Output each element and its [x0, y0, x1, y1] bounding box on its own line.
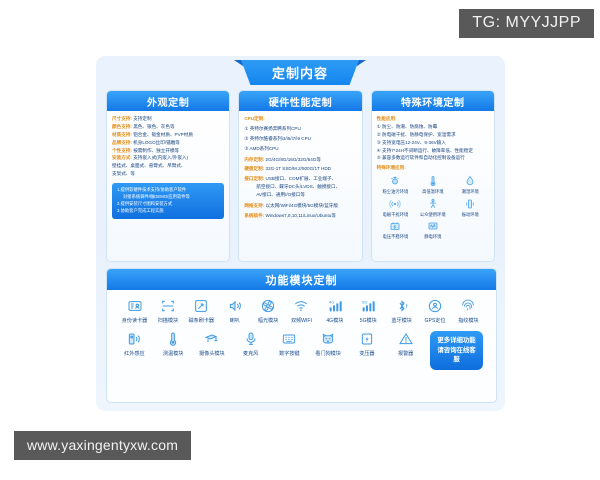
spec-label: 硬盘定制:: [244, 166, 264, 171]
spec-label: 接口定制:: [244, 176, 264, 181]
infrared-icon: [126, 331, 142, 347]
unstable-power-icon: [389, 220, 401, 232]
module-keypad[interactable]: 数字按键: [275, 331, 304, 357]
module-watchdog[interactable]: 看门狗模块: [314, 331, 343, 357]
module-label: 红外感应: [124, 350, 144, 357]
spec-value: USB接口、COM扩展、工业端子、: [266, 176, 337, 181]
service-note-box: 1.提供软硬件技术支持/协助客户软件 对接系统调件/做DEMO/应用软件等 2.…: [112, 183, 224, 219]
spec-label: 尺寸支持:: [112, 116, 132, 121]
spec-row: 个性支持: 按需制作、独立开模等: [112, 147, 224, 155]
module-label: 摄像头模块: [199, 350, 224, 357]
env-item-public-use: 公众使用环境: [414, 198, 451, 218]
env-label: 电磁干扰环境: [382, 211, 408, 218]
spec-cont-line: AV接口、通用I/O接口等: [244, 191, 356, 199]
module-label: 测温模块: [163, 350, 183, 357]
module-label: 看门狗模块: [315, 350, 340, 357]
telegram-watermark: TG: MYYJJPP: [459, 9, 594, 38]
module-5g[interactable]: 5G 5G模块: [352, 298, 385, 324]
spec-value: 以太网/WiFi/4G模块/5G模块/蓝牙版: [266, 203, 338, 208]
page-root: TG: MYYJJPP www.yaxingentyxw.com 定制内容 外观…: [0, 0, 600, 480]
public-person-icon: [427, 198, 439, 210]
module-label: 双频WIFI: [291, 317, 312, 324]
card-hardware: 硬件性能定制 CPU定制: ① 英特尔赛扬奔腾系列CPU ② 英特尔酷睿系列i3…: [238, 90, 362, 262]
module-transformer[interactable]: 变压器: [353, 331, 382, 357]
water-drop-icon: [464, 175, 476, 187]
card-appearance-body: 尺寸支持: 支持定制 颜色支持: 黑色、银色、灰色等 材质支持: 铝合金、钣金材…: [107, 111, 229, 261]
spec-row: 颜色支持: 黑色、银色、灰色等: [112, 123, 224, 131]
module-4g[interactable]: 4G 4G模块: [318, 298, 351, 324]
spec-label: 个性支持:: [112, 148, 132, 153]
spec-row: 安装方式: 支持嵌入式(内嵌入/外嵌入): [112, 154, 224, 162]
bluetooth-icon: [394, 298, 410, 314]
spec-value: 支持嵌入式(内嵌入/外嵌入): [133, 155, 188, 160]
module-speaker[interactable]: 喇叭: [218, 298, 251, 324]
env-label: 粉尘油污环境: [382, 188, 408, 195]
module-alarm[interactable]: 报警器: [391, 331, 420, 357]
spec-label: 安装方式:: [112, 155, 132, 160]
microphone-icon: [243, 331, 259, 347]
module-label: 变压器: [359, 350, 374, 357]
cpu-heading: CPU定制:: [244, 115, 356, 123]
performance-heading: 性能应用:: [377, 115, 489, 123]
speaker-icon: [227, 298, 243, 314]
env-item-unstable-power: 电压不稳环境: [377, 220, 414, 240]
env-item-vibration: 振动环境: [452, 198, 489, 218]
env-label: 静电环境: [424, 233, 441, 240]
module-label: GPS定位: [425, 317, 446, 324]
signal-4g-icon: 4G: [327, 298, 343, 314]
transformer-icon: [359, 331, 375, 347]
module-label: 扫描模块: [158, 317, 178, 324]
note-line: 2.提供安装尺寸图和安装方式: [117, 201, 220, 208]
module-label: 指纹模块: [458, 317, 478, 324]
ribbon-body: 定制内容: [241, 60, 359, 85]
spec-label: 材质支持:: [112, 132, 132, 137]
spec-row: 硬盘定制: 32G-1T SSD/M.2/500G/1T HDD: [244, 165, 356, 173]
camera-icon: [204, 331, 220, 347]
spec-row: 网络支持: 以太网/WiFi/4G模块/5G模块/蓝牙版: [244, 202, 356, 210]
gps-pin-icon: [427, 298, 443, 314]
env-item-dust-oil: 粉尘油污环境: [377, 175, 414, 195]
spec-value: 铝合金、钣金材质、PVP材质: [133, 132, 193, 137]
performance-item: ① 防尘、防潮、防腐蚀、防霉: [377, 123, 489, 131]
module-magstripe[interactable]: 磁条刷卡器: [185, 298, 218, 324]
spec-label: 颜色支持:: [112, 124, 132, 129]
signal-5g-icon: 5G: [360, 298, 376, 314]
card-environment-header: 特殊环境定制: [372, 91, 494, 111]
environment-subheading: 特殊环境应用:: [377, 164, 489, 172]
card-appearance-header: 外观定制: [107, 91, 229, 111]
cards-row: 外观定制 尺寸支持: 支持定制 颜色支持: 黑色、银色、灰色等 材质支持: 铝合…: [106, 90, 495, 262]
env-label: 电压不稳环境: [382, 233, 408, 240]
spec-row: 内存定制: 2G/4G/8G/16G/32G/64G等: [244, 156, 356, 164]
environment-icon-grid: 粉尘油污环境 高低温环境: [377, 175, 489, 240]
card-hardware-header: 硬件性能定制: [239, 91, 361, 111]
id-card-reader-icon: [127, 298, 143, 314]
module-label: 身份读卡器: [122, 317, 147, 324]
module-label: 数字按键: [279, 350, 299, 357]
spec-value: 按需制作、独立开模等: [133, 148, 179, 153]
card-appearance: 外观定制 尺寸支持: 支持定制 颜色支持: 黑色、银色、灰色等 材质支持: 铝合…: [106, 90, 230, 262]
spec-label: 内存定制:: [244, 157, 264, 162]
cpu-list-item: ① 英特尔赛扬奔腾系列CPU: [244, 125, 356, 133]
module-label: 报警器: [398, 350, 413, 357]
card-environment-body: 性能应用: ① 防尘、防潮、防腐蚀、防霉 ② 防电磁干扰、防静电保护、宽温需求 …: [372, 111, 494, 261]
site-watermark: www.yaxingentyxw.com: [14, 431, 191, 460]
spec-value: 机身LOGO丝印/镭雕等: [133, 140, 180, 145]
spec-label: 网络支持:: [244, 203, 264, 208]
module-label: 蓝牙模块: [391, 317, 411, 324]
spec-value: 支持定制: [133, 116, 151, 121]
module-id-card-reader[interactable]: 身份读卡器: [118, 298, 151, 324]
module-fingerprint[interactable]: 指纹模块: [452, 298, 485, 324]
module-scan[interactable]: 扫描模块: [151, 298, 184, 324]
svg-text:4G: 4G: [329, 299, 334, 304]
spec-row: 系统软件: Windows7,8,10,11/Linux/Ubuntu等: [244, 212, 356, 220]
note-line: 3.协助客户完成工程实施: [117, 208, 220, 215]
env-item-emi: 电磁干扰环境: [377, 198, 414, 218]
wifi-icon: [293, 298, 309, 314]
vibration-icon: [464, 198, 476, 210]
note-line: 对接系统调件/做DEMO/应用软件等: [117, 194, 220, 201]
cta-line-1: 更多详细功能: [437, 336, 476, 346]
module-label: 喇叭: [230, 317, 240, 324]
spec-value: 黑色、银色、灰色等: [133, 124, 174, 129]
spec-value: Windows7,8,10,11/Linux/Ubuntu等: [266, 213, 336, 218]
card-hardware-body: CPU定制: ① 英特尔赛扬奔腾系列CPU ② 英特尔酷睿系列i3/i5/i7/…: [239, 111, 361, 261]
module-label: 4G模块: [326, 317, 343, 324]
emi-wave-icon: [389, 198, 401, 210]
magstripe-icon: [193, 298, 209, 314]
static-spark-icon: [427, 220, 439, 232]
performance-item: ⑤ 兼容多数运行软件和自动化控制设备运行: [377, 154, 489, 162]
spec-label: 系统软件:: [244, 213, 264, 218]
watchdog-icon: [320, 331, 336, 347]
env-item-humidity: 潮湿环境: [452, 175, 489, 195]
spec-extra-line: 壁挂式、桌面式、悬臂式、吊臂式、: [112, 162, 224, 170]
spec-row: 材质支持: 铝合金、钣金材质、PVP材质: [112, 131, 224, 139]
spec-value: 32G-1T SSD/M.2/500G/1T HDD: [266, 166, 331, 171]
function-modules-panel: 功能模块定制 身份读卡器: [106, 268, 497, 403]
thermometer-icon: [427, 175, 439, 187]
card-environment-title: 特殊环境定制: [401, 94, 465, 109]
function-modules-header: 功能模块定制: [107, 269, 496, 290]
spec-extra-line: 支架式、等: [112, 170, 224, 178]
env-item-static: 静电环境: [414, 220, 451, 240]
keypad-icon: [281, 331, 297, 347]
spec-cont-line: 航空接口、蝶牙DC头/LVDS、触摸接口、: [244, 183, 356, 191]
module-row-1: 身份读卡器 扫描模块: [114, 296, 489, 324]
env-label: 高低温环境: [422, 188, 443, 195]
fingerprint-icon: [460, 298, 476, 314]
contact-support-button[interactable]: 更多详细功能 请咨询在线客服: [430, 331, 483, 370]
card-appearance-title: 外观定制: [147, 94, 189, 109]
fan-icon: [260, 298, 276, 314]
module-row-2: 红外感应 测温模块: [114, 324, 489, 370]
spec-row: 接口定制: USB接口、COM扩展、工业端子、: [244, 175, 356, 183]
env-label: 振动环境: [462, 211, 479, 218]
module-bluetooth[interactable]: 蓝牙模块: [385, 298, 418, 324]
card-hardware-title: 硬件性能定制: [269, 94, 333, 109]
cta-line-2: 请咨询在线客服: [437, 346, 476, 365]
svg-text:5G: 5G: [362, 299, 367, 304]
module-infrared[interactable]: 红外感应: [120, 331, 149, 357]
module-temperature[interactable]: 测温模块: [159, 331, 188, 357]
module-microphone[interactable]: 麦克风: [236, 331, 265, 357]
module-label: 5G模块: [360, 317, 377, 324]
module-gps[interactable]: GPS定位: [419, 298, 452, 324]
spec-value: 2G/4G/8G/16G/32G/64G等: [266, 157, 321, 162]
banner-ribbon: 定制内容: [241, 60, 359, 85]
module-fan[interactable]: 幅光模块: [252, 298, 285, 324]
performance-item: ④ 支持7*24H不间断运行、故障率低、性能稳定: [377, 147, 489, 155]
spec-row: 尺寸支持: 支持定制: [112, 115, 224, 123]
function-modules-title: 功能模块定制: [266, 272, 338, 288]
env-item-temperature: 高低温环境: [414, 175, 451, 195]
env-label: 公众使用环境: [420, 211, 446, 218]
spec-label: 品牌支持:: [112, 140, 132, 145]
scan-frame-icon: [160, 298, 176, 314]
performance-item: ② 防电磁干扰、防静电保护、宽温需求: [377, 131, 489, 139]
module-label: 麦克风: [243, 350, 258, 357]
module-label: 磁条刷卡器: [189, 317, 214, 324]
function-modules-body: 身份读卡器 扫描模块: [107, 290, 496, 402]
module-label: 幅光模块: [258, 317, 278, 324]
banner-title: 定制内容: [272, 63, 328, 82]
performance-item: ③ 支持宽电压12-24V、9-36V输入: [377, 139, 489, 147]
temp-probe-icon: [165, 331, 181, 347]
module-dual-wifi[interactable]: 双频WIFI: [285, 298, 318, 324]
cpu-list-item: ② 英特尔酷睿系列i3/i5/i7/i9 CPU: [244, 135, 356, 143]
alarm-icon: [398, 331, 414, 347]
spec-row: 品牌支持: 机身LOGO丝印/镭雕等: [112, 139, 224, 147]
cpu-list-item: ③ AMD系列CPU: [244, 145, 356, 153]
module-camera[interactable]: 摄像头模块: [198, 331, 227, 357]
env-label: 潮湿环境: [462, 188, 479, 195]
card-environment: 特殊环境定制 性能应用: ① 防尘、防潮、防腐蚀、防霉 ② 防电磁干扰、防静电保…: [371, 90, 495, 262]
dust-oil-icon: [389, 175, 401, 187]
